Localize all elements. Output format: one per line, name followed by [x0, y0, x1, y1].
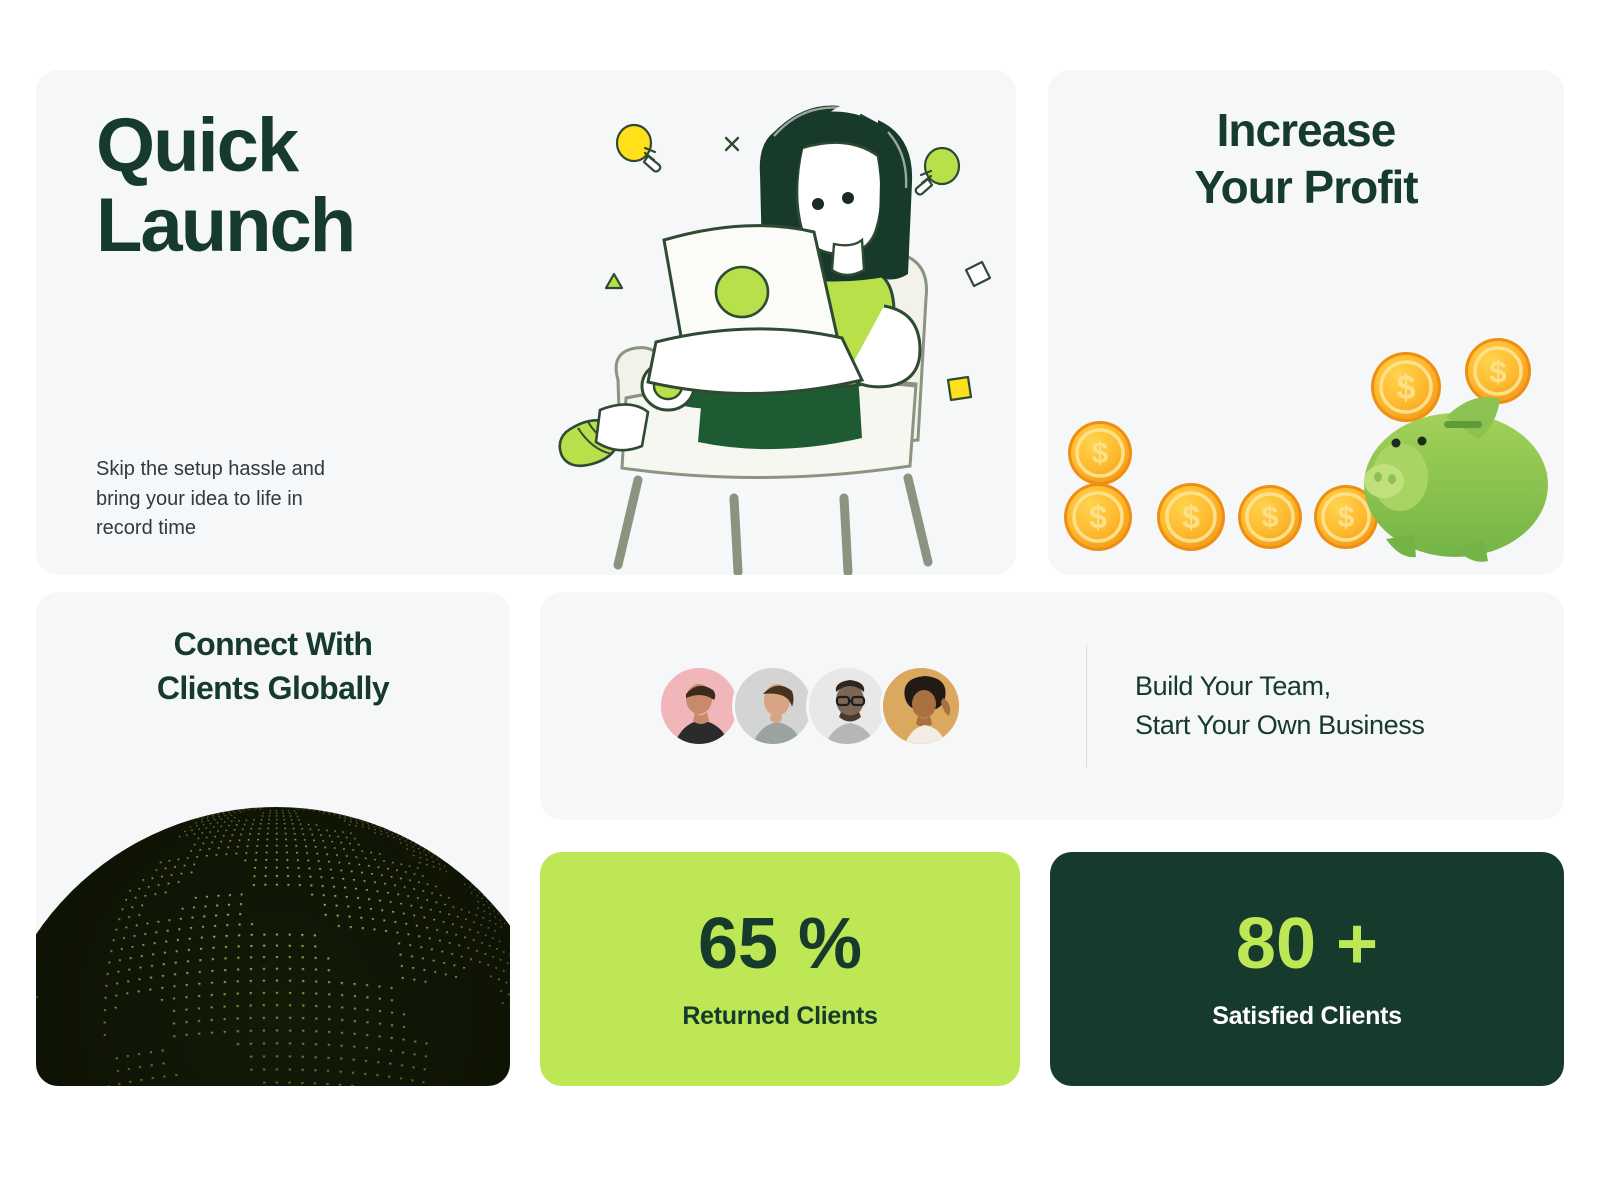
yellow-square-icon	[948, 377, 971, 400]
avatar-person-2[interactable]	[732, 665, 814, 747]
build-team-heading: Build Your Team, Start Your Own Business	[1135, 667, 1424, 745]
gold-coin: $	[1068, 421, 1132, 485]
build-team-card[interactable]: Build Your Team, Start Your Own Business	[540, 592, 1564, 820]
svg-text:$: $	[1089, 499, 1107, 535]
gold-coin: $	[1157, 483, 1225, 551]
globe-title: Connect With Clients Globally	[36, 622, 510, 710]
svg-text:$: $	[1489, 354, 1506, 389]
gold-coin: $	[1238, 485, 1302, 549]
stat-satisfied-label: Satisfied Clients	[1212, 1002, 1401, 1031]
connect-globally-card[interactable]: Connect With Clients Globally	[36, 592, 510, 1086]
svg-text:$: $	[1397, 369, 1416, 407]
armchair-legs	[618, 478, 928, 572]
stat-returned-label: Returned Clients	[682, 1002, 877, 1031]
lime-triangle-icon	[606, 274, 622, 288]
svg-text:$: $	[1262, 501, 1279, 534]
gold-coin: $	[1371, 352, 1441, 422]
stat-returned-clients-card[interactable]: 65 % Returned Clients	[540, 852, 1020, 1086]
lime-lightbulb-icon	[916, 148, 959, 195]
stat-satisfied-clients-card[interactable]: 80 + Satisfied Clients	[1050, 852, 1564, 1086]
stat-returned-value: 65 %	[698, 908, 862, 980]
piggy-bank-icon	[1364, 397, 1548, 562]
dotted-world-globe-illustration	[36, 767, 510, 1086]
gold-coin: $	[1465, 338, 1531, 404]
quick-launch-subtitle: Skip the setup hassle and bring your ide…	[96, 455, 396, 544]
avatar-person-3[interactable]	[806, 665, 888, 747]
profit-title: Increase Your Profit	[1048, 102, 1564, 216]
quick-launch-title: Quick Launch	[96, 106, 354, 266]
avatar-group	[658, 665, 954, 747]
piggy-bank-with-gold-coins-illustration: $ $ $ $	[1048, 325, 1564, 575]
gold-coin: $	[1064, 483, 1132, 551]
avatar-person-1[interactable]	[658, 665, 740, 747]
woman-on-armchair-with-laptop-illustration	[556, 80, 1016, 575]
outline-diamond-icon	[966, 262, 990, 286]
svg-text:$: $	[1338, 501, 1355, 534]
increase-profit-card[interactable]: Increase Your Profit	[1048, 70, 1564, 575]
svg-text:$: $	[1182, 499, 1200, 535]
stat-satisfied-value: 80 +	[1236, 908, 1378, 980]
avatar-person-4[interactable]	[880, 665, 962, 747]
sparkle-icon	[726, 138, 738, 150]
yellow-lightbulb-icon	[617, 125, 660, 172]
page-root: Quick Launch Skip the setup hassle and b…	[0, 0, 1600, 1200]
svg-text:$: $	[1092, 437, 1109, 470]
quick-launch-card[interactable]: Quick Launch Skip the setup hassle and b…	[36, 70, 1016, 575]
vertical-divider	[1086, 645, 1087, 767]
